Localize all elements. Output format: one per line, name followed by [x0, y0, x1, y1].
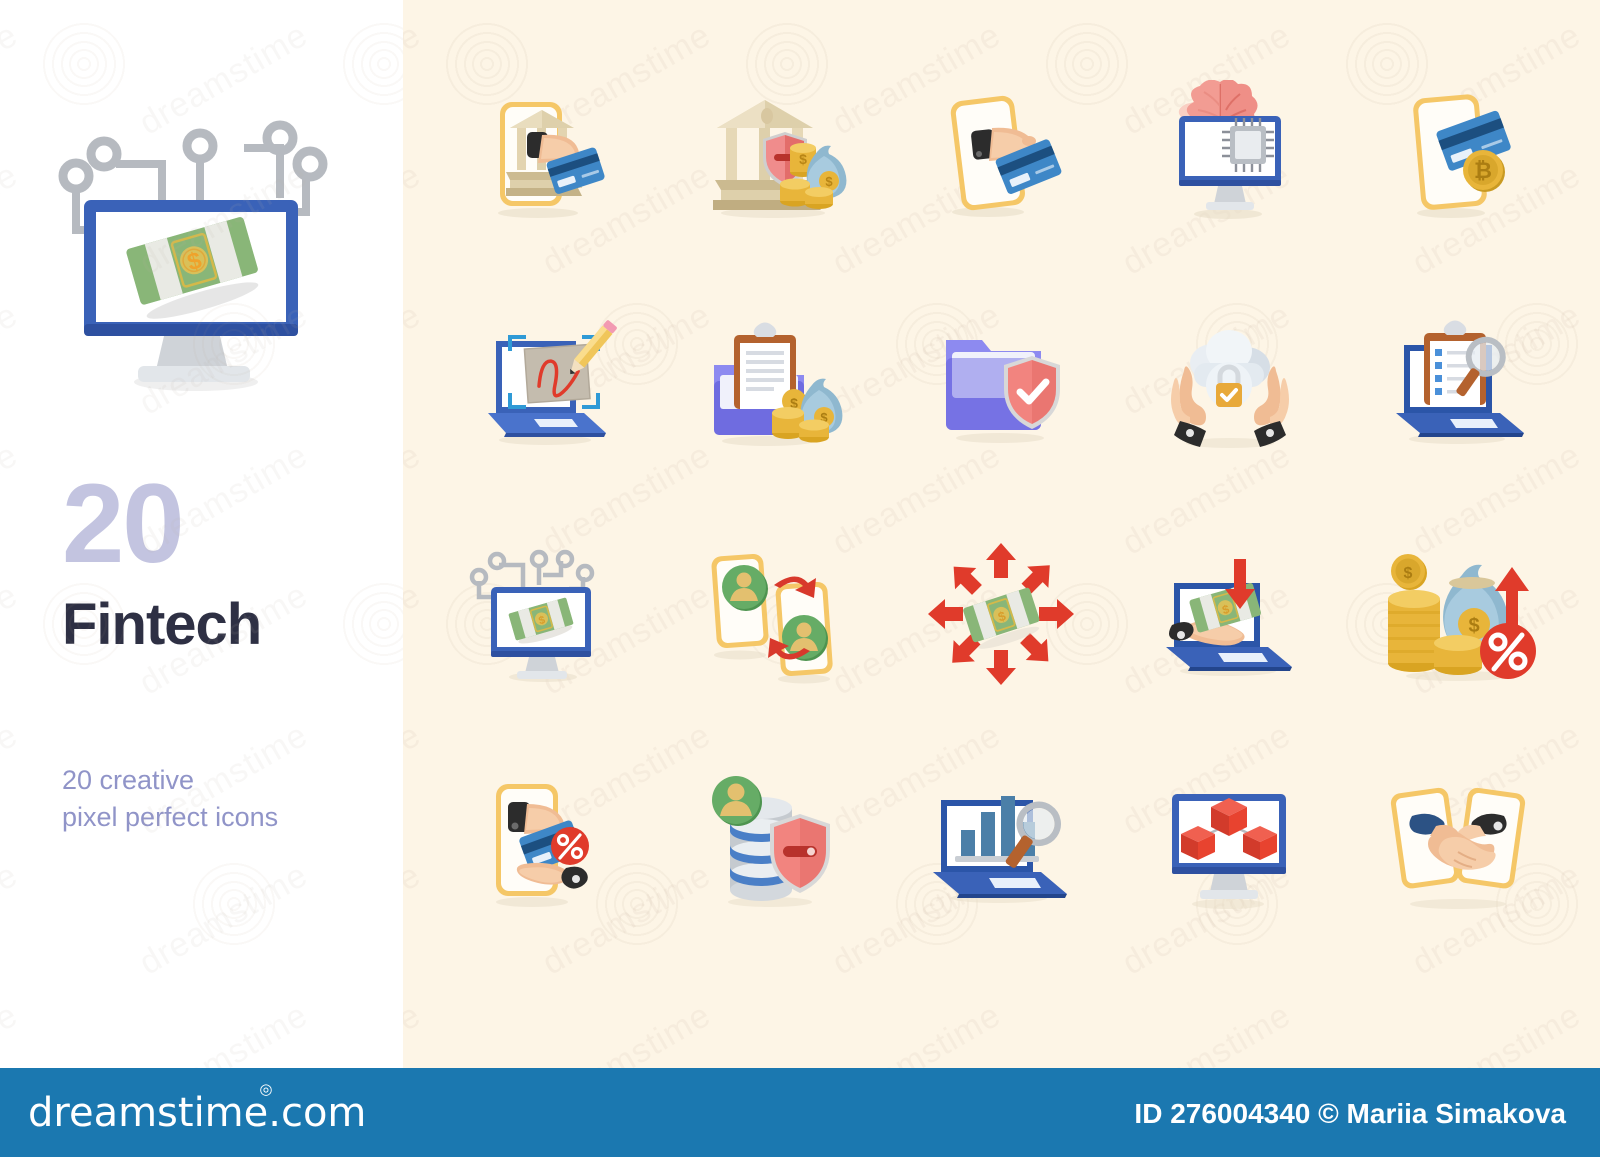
- svg-text:$: $: [1403, 565, 1412, 582]
- cover-subtitle-line: pixel perfect icons: [62, 799, 278, 836]
- cover-subtitle-line: 20 creative: [62, 762, 278, 799]
- icon-cell-bank-security-savings[interactable]: $ $: [659, 40, 887, 270]
- dreamstime-logo-text: dreamstime.com: [28, 1090, 366, 1136]
- watermark-text: dreamstime: [0, 0, 25, 3]
- cover-panel: dreamstimedreamstimedreamstimedreamstime…: [0, 0, 403, 1068]
- database-user-shield-icon: [698, 768, 848, 918]
- icon-cell-folder-shield-protection[interactable]: [887, 270, 1115, 500]
- watermark-text: dreamstime: [133, 856, 315, 984]
- laptop-chart-magnifier-icon: [921, 768, 1081, 918]
- icon-cell-peer-to-peer-transfer[interactable]: [659, 499, 887, 729]
- watermark-text: dreamstime: [0, 576, 25, 704]
- icon-count-number: 20: [62, 468, 183, 580]
- icon-cell-monitor-money-network[interactable]: $: [431, 499, 659, 729]
- icon-cell-database-user-shield[interactable]: [659, 729, 887, 959]
- spiral-watermark-icon: [340, 20, 403, 108]
- watermark-text: dreamstime: [0, 716, 25, 844]
- spiral-watermark-icon: [40, 20, 128, 108]
- ai-brain-chip-monitor-icon: [1152, 80, 1307, 230]
- svg-text:$: $: [1468, 615, 1479, 637]
- watermark-text: dreamstime: [0, 996, 25, 1068]
- icon-cell-ai-brain-chip-monitor[interactable]: [1116, 40, 1344, 270]
- monitor-money-network-icon: $: [465, 539, 625, 689]
- hands-cloud-lock-security-icon: [1150, 309, 1310, 459]
- svg-text:₿: ₿: [1474, 158, 1492, 183]
- icon-cell-clipboard-folder-money[interactable]: $ $: [659, 270, 887, 500]
- money-distribution-arrows-icon: $: [924, 539, 1079, 689]
- svg-text:$: $: [799, 151, 807, 167]
- icon-cell-coins-moneybag-percent[interactable]: $ $: [1344, 499, 1572, 729]
- laptop-digital-signature-icon: [468, 309, 623, 459]
- svg-text:$: $: [826, 174, 834, 189]
- laptop-clipboard-audit-icon: [1380, 309, 1535, 459]
- blockchain-monitor-icon: [1152, 768, 1307, 918]
- clipboard-folder-money-icon: $ $: [696, 309, 851, 459]
- hero-monitor-money-network-icon: $: [48, 108, 348, 398]
- dreamstime-logo[interactable]: dreamstime.com ◎: [28, 1090, 366, 1136]
- folder-shield-protection-icon: [926, 314, 1076, 454]
- icon-set-preview-page: dreamstimedreamstimedreamstimedreamstime…: [0, 0, 1600, 1157]
- page-title: Fintech: [62, 596, 261, 654]
- cover-subtitle: 20 creativepixel perfect icons: [62, 762, 278, 837]
- dreamstime-footer-bar: dreamstime.com ◎ ID 276004340 © Mariia S…: [0, 1068, 1600, 1157]
- phone-hand-credit-card-icon: [926, 80, 1076, 230]
- watermark-text: dreamstime: [0, 436, 25, 564]
- registered-mark-icon: ◎: [259, 1082, 272, 1097]
- watermark-text: dreamstime: [0, 156, 25, 284]
- icon-cell-laptop-chart-magnifier[interactable]: [887, 729, 1115, 959]
- watermark-text: dreamstime: [0, 856, 25, 984]
- icon-cell-laptop-digital-signature[interactable]: [431, 270, 659, 500]
- icon-cell-mobile-crypto-bitcoin-card[interactable]: ₿: [1344, 40, 1572, 270]
- mobile-bank-card-payment-icon: [470, 80, 620, 230]
- icon-cell-phone-handshake-deal[interactable]: [1344, 729, 1572, 959]
- coins-moneybag-percent-icon: $ $: [1378, 539, 1538, 689]
- mobile-crypto-bitcoin-card-icon: ₿: [1385, 80, 1530, 230]
- icon-grid: $ $: [403, 0, 1600, 1068]
- icon-cell-laptop-clipboard-audit[interactable]: [1344, 270, 1572, 500]
- icon-board: dreamstimedreamstimedreamstimedreamstime…: [403, 0, 1600, 1068]
- phone-handshake-deal-icon: [1378, 768, 1538, 918]
- icon-cell-hands-cloud-lock-security[interactable]: [1116, 270, 1344, 500]
- spiral-watermark-icon: [190, 860, 278, 948]
- peer-to-peer-transfer-icon: [696, 539, 851, 689]
- watermark-text: dreamstime: [133, 996, 315, 1068]
- icon-cell-laptop-hand-cash-deposit[interactable]: $: [1116, 499, 1344, 729]
- icon-cell-phone-hand-credit-card[interactable]: [887, 40, 1115, 270]
- watermark-text: dreamstime: [0, 296, 25, 424]
- icon-cell-phone-card-discount-hands[interactable]: [431, 729, 659, 959]
- phone-card-discount-hands-icon: [470, 768, 620, 918]
- watermark-text: dreamstime: [0, 16, 25, 144]
- image-credit-text: ID 276004340 © Mariia Simakova: [1134, 1098, 1566, 1130]
- spiral-watermark-icon: [340, 580, 403, 668]
- bank-security-savings-icon: $ $: [693, 80, 853, 230]
- watermark-text: dreamstime: [133, 0, 315, 3]
- icon-cell-mobile-bank-card-payment[interactable]: [431, 40, 659, 270]
- laptop-hand-cash-deposit-icon: $: [1150, 539, 1310, 689]
- icon-cell-money-distribution-arrows[interactable]: $: [887, 499, 1115, 729]
- icon-cell-blockchain-monitor[interactable]: [1116, 729, 1344, 959]
